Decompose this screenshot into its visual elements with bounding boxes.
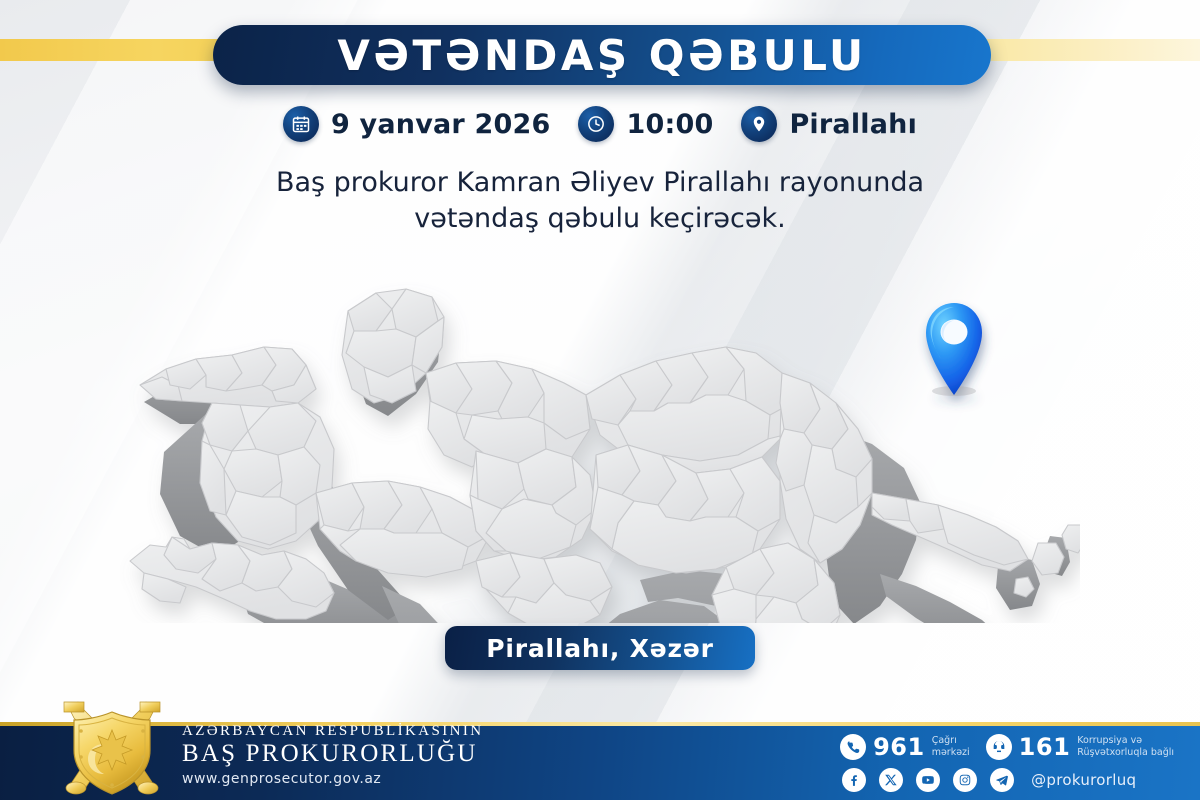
location-badge-label: Pirallahı, Xəzər: [486, 634, 714, 663]
map-marker-pirallahi: [926, 303, 982, 396]
location-badge: Pirallahı, Xəzər: [445, 626, 755, 670]
social-links-row: @prokurorluq: [840, 768, 1136, 792]
meta-item-time: 10:00: [578, 106, 713, 142]
meta-item-date: 9 yanvar 2026: [283, 106, 551, 142]
title-pill: VƏTƏNDAŞ QƏBULU: [213, 25, 991, 85]
footer-contacts: 961 Çağrı mərkəzi 161 Ko: [840, 733, 1174, 792]
hotline-161-caption-l1: Korrupsiya və: [1077, 735, 1142, 746]
org-line-1: AZƏRBAYCAN RESPUBLİKASININ: [182, 722, 483, 741]
azerbaijan-map: [120, 243, 1080, 623]
event-location: Pirallahı: [789, 109, 917, 140]
header-band: VƏTƏNDAŞ QƏBULU: [0, 27, 1200, 73]
hotline-161-caption-l2: Rüşvətxorluqla bağlı: [1077, 747, 1174, 758]
x-twitter-icon[interactable]: [879, 768, 903, 792]
event-description: Baş prokuror Kamran Əliyev Pirallahı ray…: [0, 165, 1200, 236]
hotline-961-caption-l2: mərkəzi: [932, 747, 970, 758]
footer-bar: AZƏRBAYCAN RESPUBLİKASININ BAŞ PROKURORL…: [0, 722, 1200, 800]
hotline-961-caption: Çağrı mərkəzi: [932, 735, 970, 758]
hotline-961[interactable]: 961 Çağrı mərkəzi: [840, 733, 970, 761]
social-handle[interactable]: @prokurorluq: [1031, 771, 1136, 789]
meta-item-location: Pirallahı: [741, 106, 917, 142]
event-date: 9 yanvar 2026: [331, 109, 551, 140]
organization-title: AZƏRBAYCAN RESPUBLİKASININ BAŞ PROKURORL…: [182, 722, 483, 791]
clock-icon: [578, 106, 614, 142]
map-pin-icon: [741, 106, 777, 142]
youtube-icon[interactable]: [916, 768, 940, 792]
event-time: 10:00: [626, 109, 713, 140]
description-line-1: Baş prokuror Kamran Əliyev Pirallahı ray…: [276, 167, 924, 198]
instagram-icon[interactable]: [953, 768, 977, 792]
calendar-icon: [283, 106, 319, 142]
facebook-icon[interactable]: [842, 768, 866, 792]
telegram-icon[interactable]: [990, 768, 1014, 792]
hotline-161-caption: Korrupsiya və Rüşvətxorluqla bağlı: [1077, 735, 1174, 758]
page-title: VƏTƏNDAŞ QƏBULU: [337, 31, 866, 80]
hotline-161-number: 161: [1019, 733, 1071, 761]
poster-root: VƏTƏNDAŞ QƏBULU 9 yanvar 2026: [0, 0, 1200, 800]
yellow-bar-right: [960, 39, 1200, 61]
prosecutor-shield-emblem: [48, 700, 176, 796]
org-line-2: BAŞ PROKURORLUĞU: [182, 740, 483, 769]
description-line-2: vətəndaş qəbulu keçirəcək.: [120, 201, 1080, 237]
hotline-row: 961 Çağrı mərkəzi 161 Ko: [840, 733, 1174, 761]
org-website[interactable]: www.genprosecutor.gov.az: [182, 769, 483, 790]
event-meta-row: 9 yanvar 2026 10:00 Pirallahı: [0, 106, 1200, 142]
hotline-961-caption-l1: Çağrı: [932, 735, 957, 746]
phone-icon: [840, 734, 866, 760]
headset-icon: [986, 734, 1012, 760]
hotline-161[interactable]: 161 Korrupsiya və Rüşvətxorluqla bağlı: [986, 733, 1174, 761]
hotline-961-number: 961: [873, 733, 925, 761]
